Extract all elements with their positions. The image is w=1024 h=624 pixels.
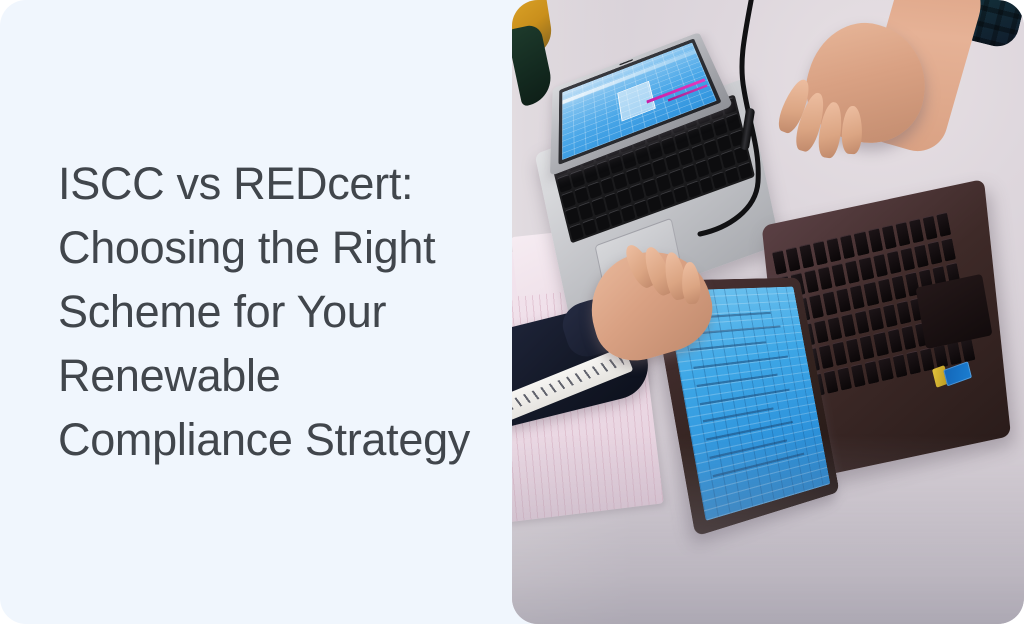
photo-canvas xyxy=(512,0,1024,624)
blog-header-card: ISCC vs REDcert: Choosing the Right Sche… xyxy=(0,0,1024,624)
page-title: ISCC vs REDcert: Choosing the Right Sche… xyxy=(58,152,472,471)
hero-image xyxy=(512,0,1024,624)
text-panel: ISCC vs REDcert: Choosing the Right Sche… xyxy=(0,0,512,624)
desk-shadow xyxy=(512,434,1024,624)
dark-laptop-trackpad xyxy=(915,274,992,349)
